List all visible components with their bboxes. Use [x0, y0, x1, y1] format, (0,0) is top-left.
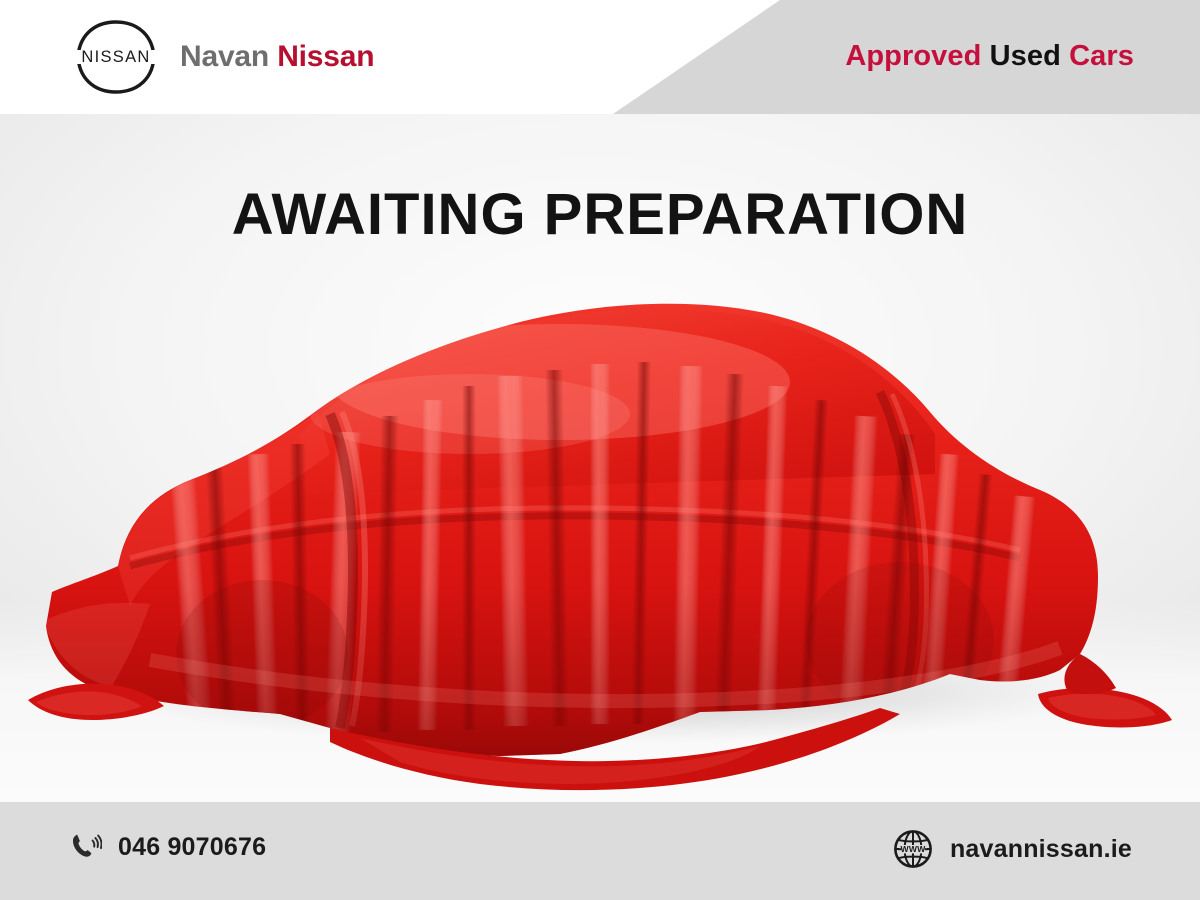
footer-website[interactable]: WWW navannissan.ie [892, 828, 1132, 870]
nissan-logo-icon: NISSAN [68, 16, 164, 98]
dealer-name: Navan Nissan [180, 42, 374, 72]
svg-text:NISSAN: NISSAN [81, 48, 150, 66]
globe-www-icon: WWW [892, 828, 934, 870]
website-url: navannissan.ie [950, 835, 1132, 864]
vehicle-listing-placeholder-image: NISSAN Navan Nissan Approved Used Cars A… [0, 0, 1200, 900]
dealer-name-second: Nissan [277, 40, 374, 73]
phone-number: 046 9070676 [118, 833, 266, 862]
page-header: NISSAN Navan Nissan Approved Used Cars [0, 0, 1200, 114]
vehicle-image-stage: AWAITING PREPARATION [0, 114, 1200, 802]
badge-word-cars: Cars [1069, 40, 1134, 72]
phone-icon [68, 830, 102, 864]
footer-phone[interactable]: 046 9070676 [68, 830, 266, 864]
approved-used-cars-badge: Approved Used Cars [845, 42, 1134, 71]
badge-word-approved: Approved [845, 40, 989, 72]
covered-car-illustration [0, 114, 1200, 802]
dealer-name-first: Navan [180, 40, 277, 73]
page-footer: 046 9070676 WWW navannissan.ie [0, 802, 1200, 900]
dealer-brand[interactable]: NISSAN Navan Nissan [68, 16, 374, 98]
svg-text:WWW: WWW [900, 844, 926, 854]
badge-word-used: Used [990, 40, 1069, 72]
